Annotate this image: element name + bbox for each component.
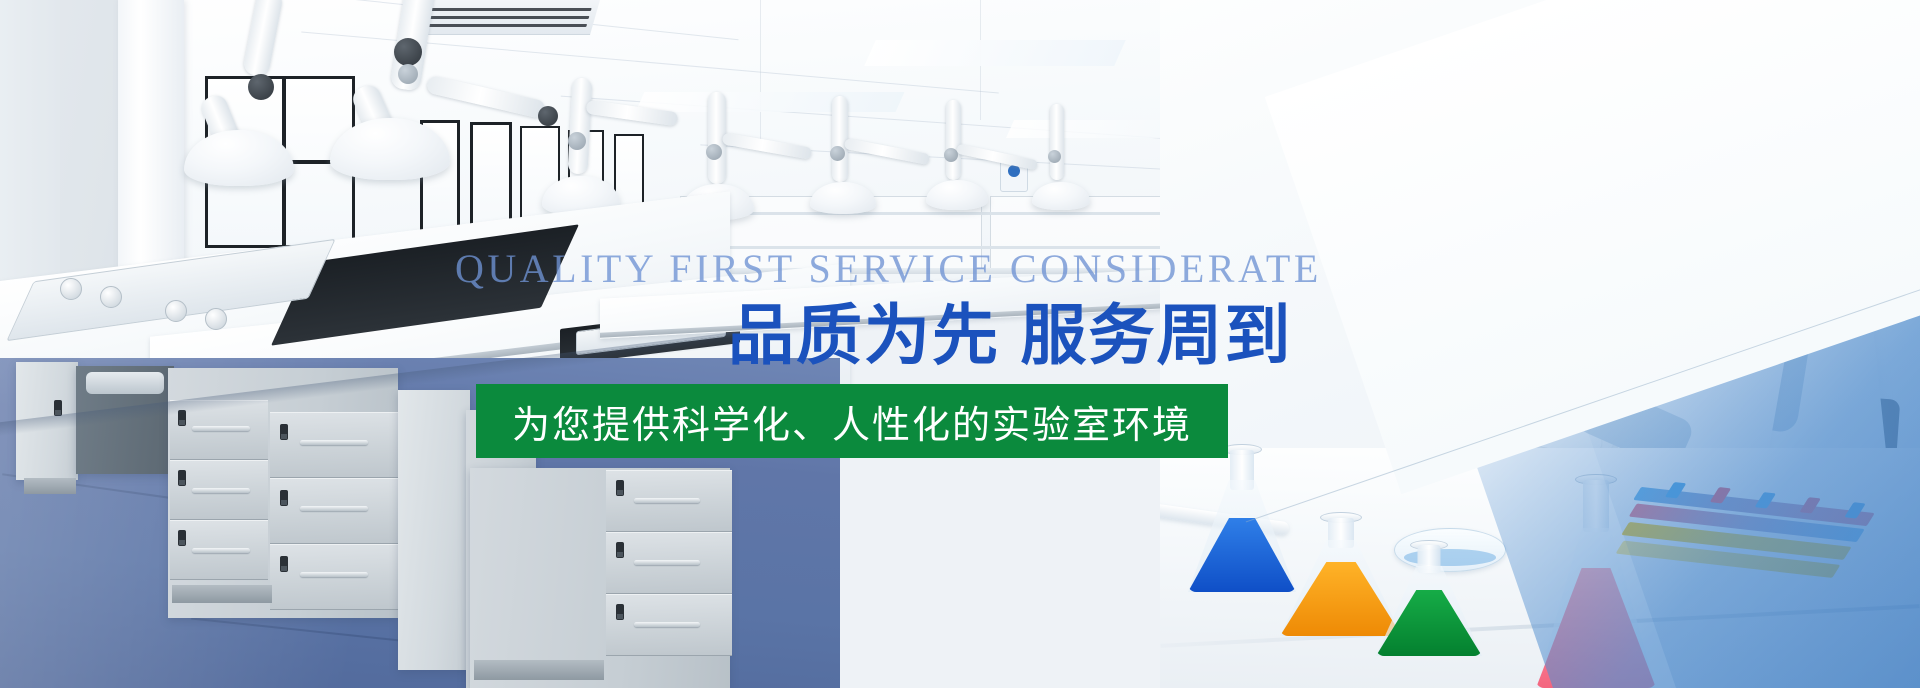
banner-copy: QUALITY FIRST SERVICE CONSIDERATE 品质为先 服… bbox=[0, 0, 1920, 688]
banner-headline: 品质为先 服务周到 bbox=[728, 301, 1292, 370]
hero-banner: QUALITY FIRST SERVICE CONSIDERATE 品质为先 服… bbox=[0, 0, 1920, 688]
banner-subheadline-bar: 为您提供科学化、人性化的实验室环境 bbox=[476, 384, 1228, 458]
banner-english-tagline: QUALITY FIRST SERVICE CONSIDERATE bbox=[455, 249, 1322, 289]
banner-subheadline-text: 为您提供科学化、人性化的实验室环境 bbox=[512, 394, 1192, 449]
